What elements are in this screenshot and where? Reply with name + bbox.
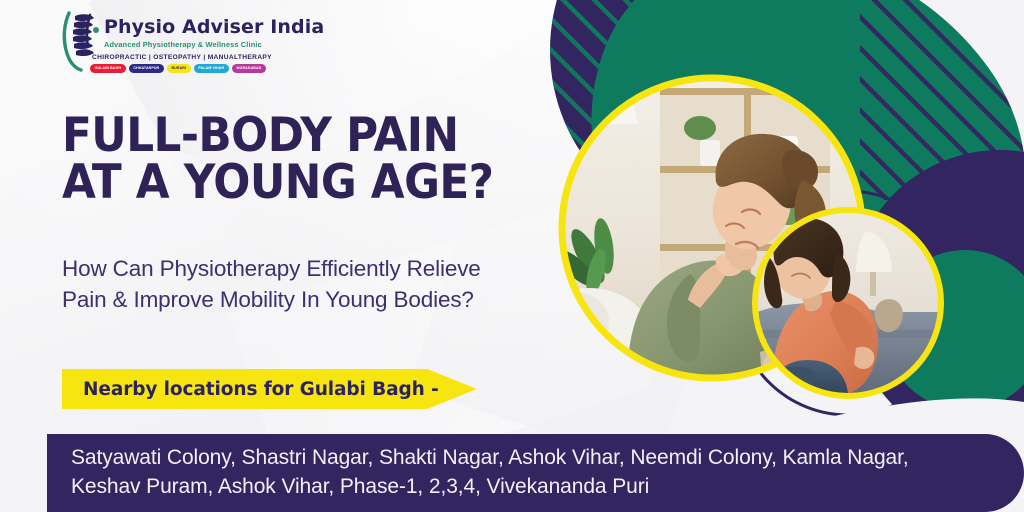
location-badge-2[interactable]: BURARI (167, 64, 191, 73)
brand-logo[interactable]: Physio Adviser India Advanced Physiother… (60, 8, 260, 80)
location-badge-list: GULABI BAGHCHHATARPURBURARIPALAM VIHARMO… (90, 64, 266, 73)
photo-small-woman-back-pain (753, 208, 943, 398)
headline-line-2: AT A YOUNG AGE? (62, 160, 518, 207)
brand-services: CHIROPRACTIC | OSTEOPATHY | MANUALTHERAP… (92, 54, 264, 61)
logo-wordmark: Physio Adviser India Advanced Physiother… (104, 18, 264, 49)
brand-name: Physio Adviser India (104, 18, 264, 37)
locations-line-1: Satyawati Colony, Shastri Nagar, Shakti … (71, 444, 909, 473)
promo-banner: Physio Adviser India Advanced Physiother… (0, 0, 1024, 512)
subheading-line-1: How Can Physiotherapy Efficiently (62, 256, 401, 281)
location-badge-3[interactable]: PALAM VIHAR (194, 64, 229, 73)
page-title: FULL-BODY PAIN AT A YOUNG AGE? (62, 113, 518, 206)
locations-line-2: Keshav Puram, Ashok Vihar, Phase-1, 2,3,… (71, 473, 909, 502)
location-badge-0[interactable]: GULABI BAGH (90, 64, 126, 73)
nearby-locations-label: Nearby locations for Gulabi Bagh - (83, 369, 439, 409)
nearby-locations-banner: Nearby locations for Gulabi Bagh - (62, 369, 477, 409)
locations-bar: Satyawati Colony, Shastri Nagar, Shakti … (47, 434, 1024, 512)
spine-icon (60, 10, 106, 72)
brand-tagline: Advanced Physiotherapy & Wellness Clinic (104, 40, 264, 49)
subheading: How Can Physiotherapy Efficiently Reliev… (62, 253, 512, 315)
locations-text: Satyawati Colony, Shastri Nagar, Shakti … (47, 444, 949, 502)
location-badge-1[interactable]: CHHATARPUR (129, 64, 164, 73)
subheading-line-3: Young Bodies? (325, 287, 474, 312)
location-badge-4[interactable]: MORADABAD (232, 64, 266, 73)
